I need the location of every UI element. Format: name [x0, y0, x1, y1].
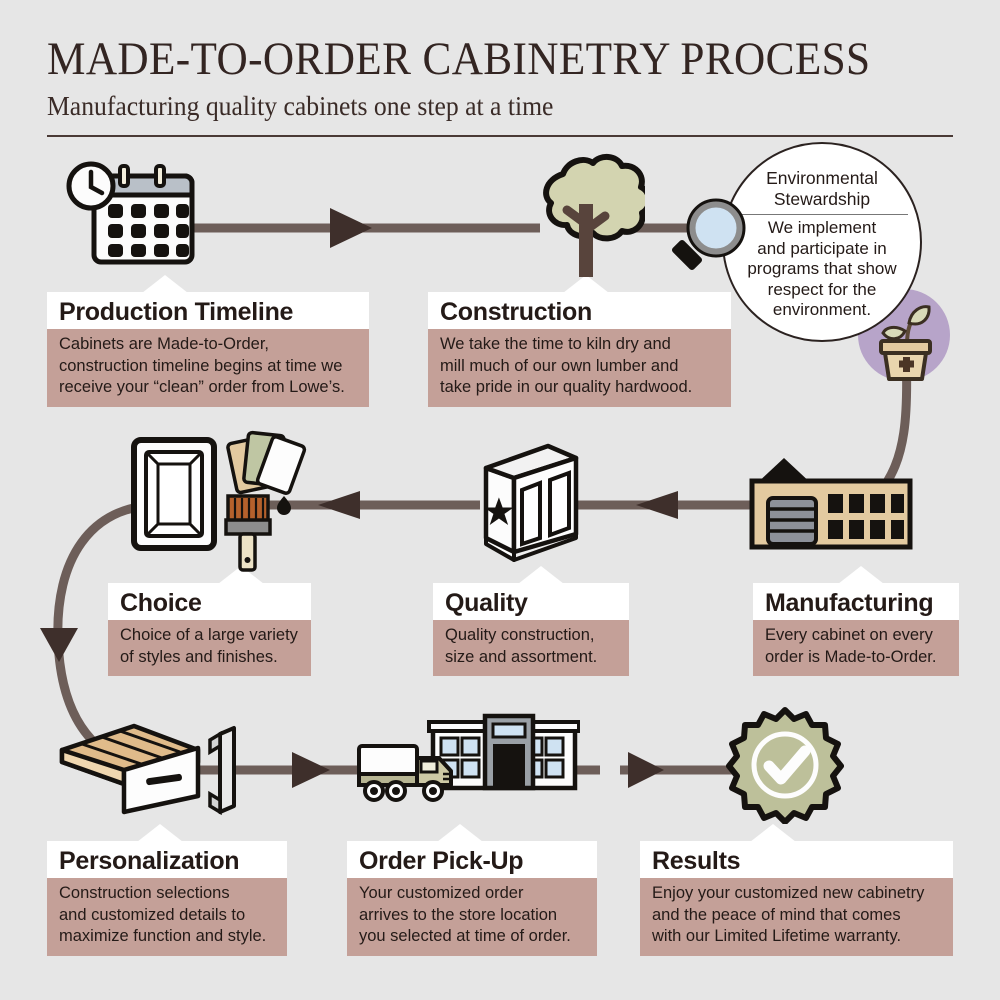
- card-title: Results: [640, 841, 953, 878]
- card-title: Choice: [108, 583, 311, 620]
- card-body: We take the time to kiln dry and mill mu…: [428, 329, 731, 407]
- cabinet-door-swatches-brush-icon: [128, 424, 308, 574]
- step-card-personalization[interactable]: Personalization Construction selections …: [47, 841, 287, 956]
- magnifier-icon: [664, 195, 756, 287]
- card-title: Quality: [433, 583, 629, 620]
- card-title: Construction: [428, 292, 731, 329]
- card-body: Choice of a large variety of styles and …: [108, 620, 311, 676]
- step-card-quality[interactable]: Quality Quality construction, size and a…: [433, 583, 629, 676]
- card-body: Construction selections and customized d…: [47, 878, 287, 956]
- step-card-results[interactable]: Results Enjoy your customized new cabine…: [640, 841, 953, 956]
- card-body: Your customized order arrives to the sto…: [347, 878, 597, 956]
- card-body: Quality construction, size and assortmen…: [433, 620, 629, 676]
- drawer-handle-icon: [58, 722, 248, 817]
- step-card-manufacturing[interactable]: Manufacturing Every cabinet on every ord…: [753, 583, 959, 676]
- card-title: Personalization: [47, 841, 287, 878]
- cabinet-pull-handle: [210, 728, 234, 812]
- infographic-canvas: MADE-TO-ORDER CABINETRY PROCESS Manufact…: [0, 0, 1000, 1000]
- delivery-truck-store-icon: [355, 712, 580, 812]
- card-title: Production Timeline: [47, 292, 369, 329]
- factory-icon: [746, 450, 916, 555]
- card-title: Order Pick-Up: [347, 841, 597, 878]
- card-body: Enjoy your customized new cabinetry and …: [640, 878, 953, 956]
- quality-badge-check-icon: [726, 706, 844, 824]
- card-title: Manufacturing: [753, 583, 959, 620]
- step-card-construction[interactable]: Construction We take the time to kiln dr…: [428, 292, 731, 407]
- tree-icon: [527, 152, 645, 277]
- card-body: Cabinets are Made-to-Order, construction…: [47, 329, 369, 407]
- paint-brush: [226, 496, 291, 570]
- cabinet-icon: [476, 442, 591, 562]
- step-card-production-timeline[interactable]: Production Timeline Cabinets are Made-to…: [47, 292, 369, 407]
- step-card-order-pick-up[interactable]: Order Pick-Up Your customized order arri…: [347, 841, 597, 956]
- card-body: Every cabinet on every order is Made-to-…: [753, 620, 959, 676]
- step-card-choice[interactable]: Choice Choice of a large variety of styl…: [108, 583, 311, 676]
- calendar-clock-icon: [58, 158, 203, 273]
